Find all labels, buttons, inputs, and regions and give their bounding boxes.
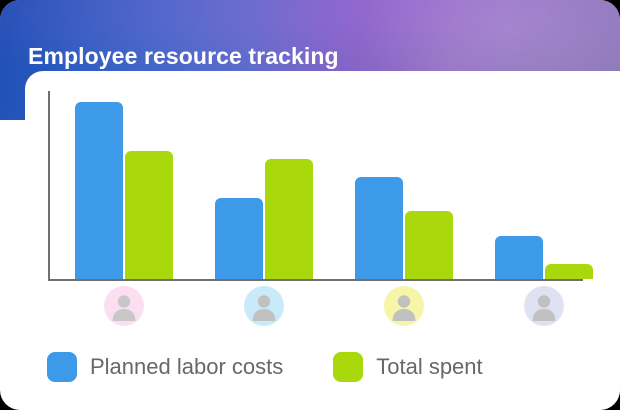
plot-area — [50, 91, 583, 279]
avatar-row — [50, 286, 585, 330]
legend-label: Planned labor costs — [90, 354, 283, 380]
person-icon — [384, 286, 424, 326]
bar-chart — [48, 91, 583, 283]
bar-employee-3-spent[interactable] — [405, 211, 453, 279]
legend-swatch-icon — [333, 352, 363, 382]
bar-employee-4-spent[interactable] — [545, 264, 593, 279]
x-axis-line — [48, 279, 583, 281]
person-icon — [524, 286, 564, 326]
avatar-employee-4[interactable] — [524, 286, 564, 326]
bar-employee-2-spent[interactable] — [265, 159, 313, 279]
bar-employee-1-planned[interactable] — [75, 102, 123, 279]
legend-item-total-spent[interactable]: Total spent — [333, 352, 482, 382]
bar-employee-2-planned[interactable] — [215, 198, 263, 279]
legend-swatch-icon — [47, 352, 77, 382]
avatar-employee-1[interactable] — [104, 286, 144, 326]
legend-item-planned-labor-costs[interactable]: Planned labor costs — [47, 352, 283, 382]
avatar-employee-3[interactable] — [384, 286, 424, 326]
legend-label: Total spent — [376, 354, 482, 380]
bar-employee-3-planned[interactable] — [355, 177, 403, 279]
avatar-employee-2[interactable] — [244, 286, 284, 326]
bar-employee-1-spent[interactable] — [125, 151, 173, 279]
person-icon — [104, 286, 144, 326]
dashboard-screen: Employee resource tracking Planned labor… — [0, 0, 620, 410]
person-icon — [244, 286, 284, 326]
bar-employee-4-planned[interactable] — [495, 236, 543, 279]
chart-legend: Planned labor costsTotal spent — [47, 352, 483, 382]
page-title: Employee resource tracking — [28, 41, 339, 71]
chart-card: Planned labor costsTotal spent — [25, 71, 620, 410]
